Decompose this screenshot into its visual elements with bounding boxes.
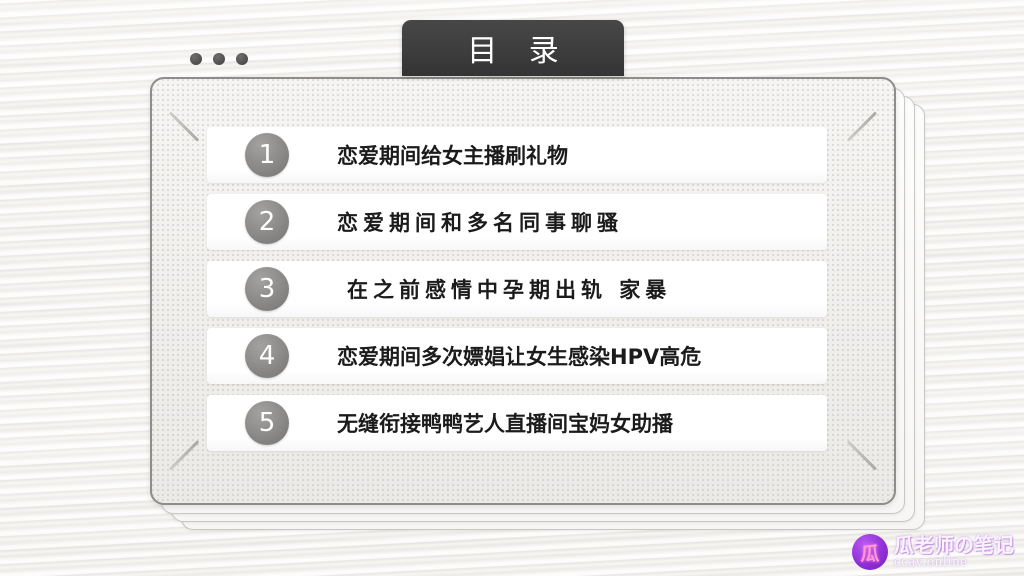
toc-item-label-4: 恋爱期间多次嫖娼让女生感染HPV高危	[337, 341, 701, 371]
watermark-texts: 瓜老师の笔记 ccav.online	[894, 535, 1014, 570]
corner-mark-bottom-left-icon	[169, 440, 199, 470]
corner-mark-top-right-icon	[847, 111, 877, 141]
window-dots	[190, 53, 248, 65]
toc-item-number-1: 1	[245, 133, 289, 177]
corner-mark-top-left-icon	[169, 111, 199, 141]
corner-mark-bottom-right-icon	[847, 440, 877, 470]
toc-item-2[interactable]: 2 恋爱期间和多名同事聊骚	[207, 194, 827, 250]
watermark-title: 瓜老师の笔记	[894, 535, 1014, 555]
window-dot-icon-3	[236, 53, 248, 65]
watermark: 瓜 瓜老师の笔记 ccav.online	[852, 534, 1014, 570]
toc-item-number-5: 5	[245, 401, 289, 445]
watermark-logo-icon: 瓜	[852, 534, 888, 570]
window-dot-icon-2	[213, 53, 225, 65]
toc-item-number-4: 4	[245, 334, 289, 378]
toc-item-5[interactable]: 5 无缝衔接鸭鸭艺人直播间宝妈女助播	[207, 395, 827, 451]
toc-item-number-2: 2	[245, 200, 289, 244]
title-banner: 目 录	[402, 20, 624, 76]
toc-item-4[interactable]: 4 恋爱期间多次嫖娼让女生感染HPV高危	[207, 328, 827, 384]
toc-item-3[interactable]: 3 在之前感情中孕期出轨 家暴	[207, 261, 827, 317]
page-title: 目 录	[456, 26, 570, 70]
toc-item-label-5: 无缝衔接鸭鸭艺人直播间宝妈女助播	[337, 408, 673, 438]
toc-item-label-2: 恋爱期间和多名同事聊骚	[337, 207, 623, 237]
toc-card: 1 恋爱期间给女主播刷礼物 2 恋爱期间和多名同事聊骚 3 在之前感情中孕期出轨…	[150, 77, 896, 505]
window-dot-icon-1	[190, 53, 202, 65]
toc-item-label-3: 在之前感情中孕期出轨 家暴	[347, 274, 671, 304]
toc-item-number-3: 3	[245, 267, 289, 311]
watermark-subtitle: ccav.online	[894, 555, 1014, 570]
toc-item-1[interactable]: 1 恋爱期间给女主播刷礼物	[207, 127, 827, 183]
toc-item-label-1: 恋爱期间给女主播刷礼物	[337, 140, 568, 170]
slide-canvas: 目 录 1 恋爱期间给女主播刷礼物 2 恋爱期间和多名同事聊骚 3 在之前感情中…	[0, 0, 1024, 576]
toc-list: 1 恋爱期间给女主播刷礼物 2 恋爱期间和多名同事聊骚 3 在之前感情中孕期出轨…	[207, 127, 827, 451]
